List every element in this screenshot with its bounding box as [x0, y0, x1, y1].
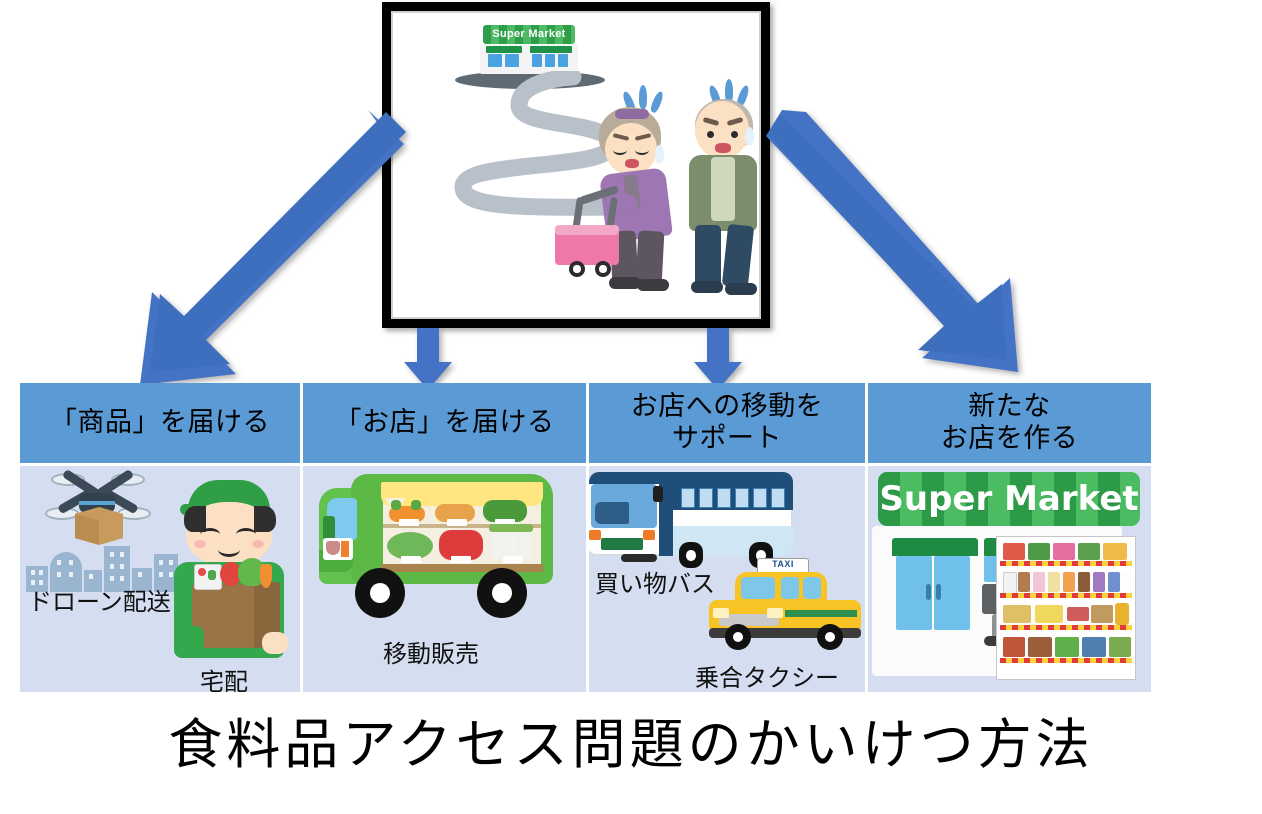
bus-window — [717, 488, 731, 508]
shop-awning-left — [486, 46, 522, 53]
shop-sign-label: Super Market — [483, 25, 575, 44]
shoe — [637, 279, 669, 291]
taxi-window — [803, 577, 821, 599]
shop-building — [480, 44, 578, 74]
item-label-shared-taxi: 乗合タクシー — [695, 658, 839, 692]
shoe — [691, 281, 723, 293]
bus-roof — [589, 472, 793, 484]
item-label-shopping-bus: 買い物バス — [595, 564, 715, 599]
shoe — [725, 283, 757, 295]
column-body-2: 移動販売 — [303, 466, 586, 692]
eye — [236, 528, 256, 541]
taxi-green-stripe — [785, 610, 857, 617]
eye — [613, 145, 627, 155]
solutions-table: 「商品」を届ける 「お店」を届ける お店への移動を サポート 新たな お店を作る — [20, 383, 1142, 689]
drone-stripe — [79, 501, 115, 505]
grandmother-leg — [636, 230, 665, 285]
truck-logo-mark — [326, 541, 340, 555]
shared-taxi-icon: TAXI — [709, 558, 865, 658]
courier-hand — [262, 632, 288, 654]
bus-window — [753, 488, 767, 508]
arrow-down-col3 — [694, 328, 742, 390]
bus-pillar — [659, 472, 673, 556]
arrow-down-left — [110, 110, 410, 385]
supermarket-sign-label: Super Market — [878, 472, 1140, 526]
hero-photo-frame: Super Market — [382, 2, 770, 328]
bus-window — [735, 488, 749, 508]
taxi-window — [781, 577, 799, 599]
daikon — [491, 528, 503, 560]
bus-indicator — [643, 530, 655, 540]
sweat-drop — [649, 90, 665, 113]
product-dot — [198, 568, 206, 576]
cart-wheel — [595, 261, 611, 277]
column-header-4: 新たな お店を作る — [868, 383, 1151, 463]
elderly-couple-icon — [563, 79, 761, 314]
shop-window — [488, 54, 502, 67]
truck-wheel — [477, 568, 527, 618]
bus-indicator — [589, 530, 601, 540]
column-header-1-label: 「商品」を届ける — [50, 407, 270, 439]
supermarket-storefront-icon: Super Market — [872, 472, 1142, 680]
truck-wheel — [355, 568, 405, 618]
grandmother-hairband — [615, 109, 649, 119]
arrow-down-col2 — [404, 328, 452, 390]
taxi-windshield — [741, 577, 775, 599]
carrot — [260, 564, 272, 588]
taxi-headlight — [767, 608, 783, 618]
bus-front-wheel — [621, 554, 657, 562]
bus-window — [771, 488, 785, 508]
column-body-1: ドローン配送 — [20, 466, 300, 692]
mobile-grocery-truck-icon — [319, 472, 559, 632]
column-header-2-label: 「お店」を届ける — [335, 407, 555, 439]
column-header-3: お店への移動を サポート — [589, 383, 865, 463]
carrot-leaf — [391, 500, 401, 510]
cart-bag-top — [555, 225, 619, 235]
bus-window — [699, 488, 713, 508]
grandfather-leg — [722, 224, 754, 288]
sweat-drop — [745, 127, 754, 145]
sweat-drop — [639, 85, 647, 109]
courier-hair — [254, 506, 276, 532]
courier-arm — [180, 626, 204, 656]
cart-wheel — [569, 261, 585, 277]
shop-awning-right — [530, 46, 572, 53]
eye — [200, 528, 220, 541]
eye — [707, 131, 714, 138]
product-shelf-unit — [996, 536, 1136, 680]
taxi-wheel — [817, 624, 843, 650]
arrow-down-right — [766, 110, 1046, 385]
item-label-drone: ドローン配送 — [28, 582, 171, 617]
column-header-4-line1: 新たな — [968, 391, 1051, 422]
eye — [635, 145, 649, 155]
grandfather-shirt — [711, 157, 735, 221]
shop-window — [545, 54, 555, 67]
grandfather-leg — [695, 225, 721, 287]
column-header-2: 「お店」を届ける — [303, 383, 586, 463]
column-header-3-line2: サポート — [672, 423, 782, 454]
shelf-base — [381, 564, 543, 572]
taxi-headlight — [713, 608, 729, 618]
cheek — [194, 540, 206, 548]
column-header-4-line2: お店を作る — [941, 423, 1079, 454]
product-dot — [208, 570, 216, 580]
hero-photo: Super Market — [391, 11, 761, 319]
delivery-box — [75, 507, 123, 545]
daikon-leaf — [489, 524, 533, 532]
column-header-3-line1: お店への移動を — [631, 391, 824, 422]
truck-logo-bar — [341, 541, 349, 557]
mouth — [625, 159, 639, 168]
shop-window — [505, 54, 519, 67]
page-title: 食料品アクセス問題のかいけつ方法 — [0, 700, 1262, 779]
shop-window — [558, 54, 568, 67]
column-body-3: 買い物バス TAXI 乗合タクシー — [589, 466, 865, 692]
truck-mirror — [323, 516, 335, 540]
item-label-mobile-sales: 移動販売 — [383, 634, 479, 669]
eye — [731, 131, 738, 138]
door-handle — [926, 584, 931, 600]
column-body-4: Super Market — [868, 466, 1151, 692]
taxi-wheel — [725, 624, 751, 650]
item-label-home-delivery: 宅配 — [200, 662, 248, 692]
cheek — [252, 540, 264, 548]
home-delivery-courier-icon — [166, 476, 300, 666]
slide-canvas: Super Market — [0, 0, 1262, 814]
bus-driver-silhouette — [595, 502, 629, 524]
mouth — [218, 542, 240, 557]
bus-plate — [601, 538, 643, 550]
bus-mirror — [653, 486, 663, 502]
mouth — [715, 143, 731, 153]
door-handle — [936, 584, 941, 600]
column-header-1: 「商品」を届ける — [20, 383, 300, 463]
courier-hair — [184, 506, 206, 532]
store-awning — [892, 538, 978, 556]
sweat-drop — [655, 145, 664, 163]
shop-window — [532, 54, 542, 67]
carrot-leaf — [411, 500, 421, 510]
drone-delivery-icon — [45, 471, 155, 549]
bus-window — [681, 488, 695, 508]
